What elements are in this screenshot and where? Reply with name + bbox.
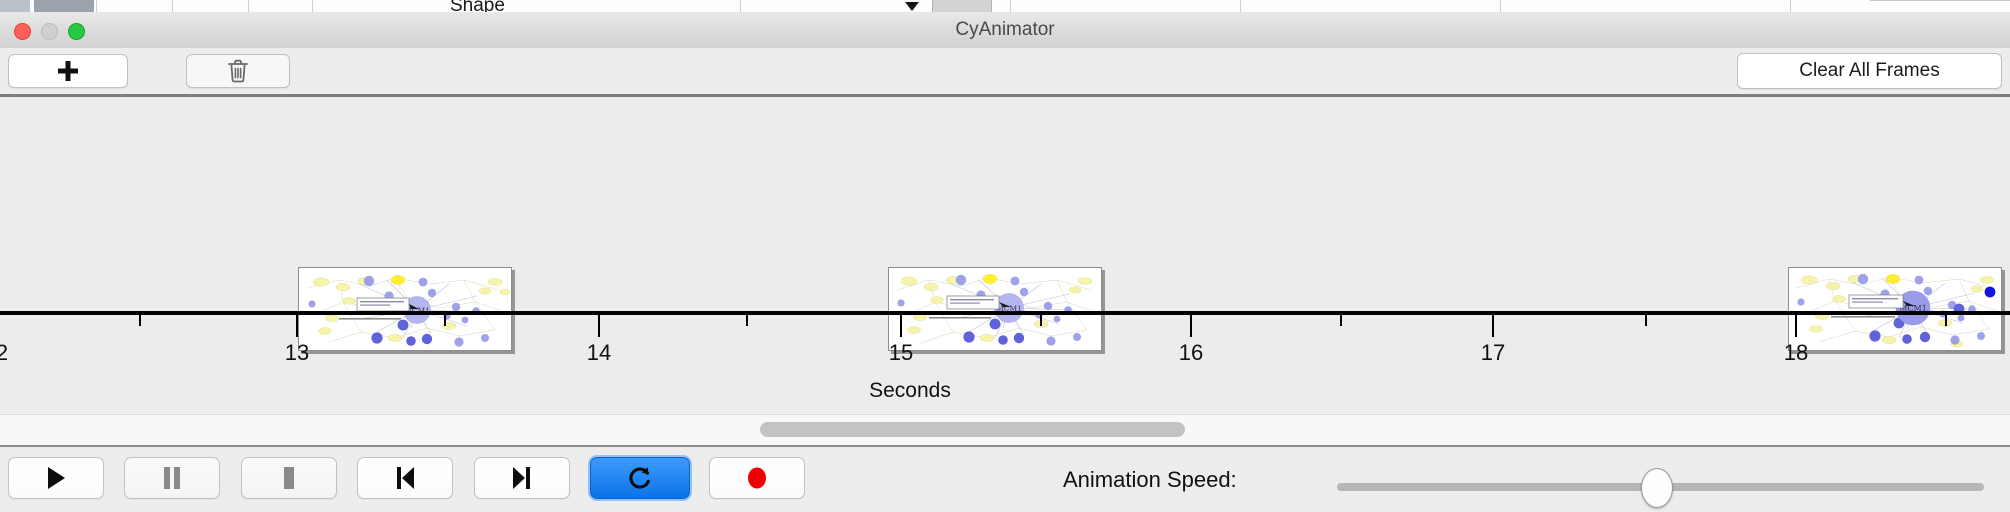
pause-icon: [161, 465, 183, 491]
clear-all-frames-label: Clear All Frames: [1799, 60, 1939, 82]
add-frame-button[interactable]: [8, 54, 128, 88]
axis-tick-major: [1190, 315, 1192, 337]
axis-tick-minor: [139, 315, 141, 326]
timeline-frame-thumbnail[interactable]: MCM1: [298, 267, 512, 351]
axis-tick-minor: [1645, 315, 1647, 326]
skip-to-start-button[interactable]: [357, 457, 453, 499]
stop-icon: [278, 465, 300, 491]
axis-tick-major: [296, 315, 298, 337]
window-title: CyAnimator: [0, 12, 2010, 48]
play-icon: [44, 465, 68, 491]
plus-icon: [55, 58, 81, 84]
timeline-frame-thumbnail[interactable]: MCM1: [1788, 267, 2002, 351]
loop-button[interactable]: [590, 457, 690, 499]
animation-speed-label: Animation Speed:: [1063, 447, 1237, 512]
background-caret-icon: [905, 2, 919, 11]
timeline-scrollbar-thumb[interactable]: [760, 422, 1185, 437]
loop-icon: [627, 465, 653, 491]
toolbar: Clear All Frames: [0, 48, 2010, 97]
axis-title: Seconds: [0, 379, 2010, 403]
title-bar: CyAnimator: [0, 12, 2010, 49]
play-button[interactable]: [8, 457, 104, 499]
skip-start-icon: [393, 465, 417, 491]
axis-tick-label: 14: [587, 340, 611, 366]
background-window-strip: Shape: [0, 0, 2010, 12]
axis-title-label: Seconds: [869, 379, 951, 402]
axis-tick-label: 16: [1179, 340, 1203, 366]
pause-button[interactable]: [124, 457, 220, 499]
axis-tick-minor: [1945, 315, 1947, 326]
timeline-frame-thumbnail[interactable]: MCM1: [888, 267, 1102, 351]
axis-tick-label: 2: [0, 340, 8, 366]
timeline-scrollbar[interactable]: [0, 414, 2010, 446]
axis-tick-major: [598, 315, 600, 337]
animation-speed-slider-thumb[interactable]: [1641, 468, 1673, 508]
axis-tick-label: 13: [285, 340, 309, 366]
axis-tick-major: [900, 315, 902, 337]
axis-tick-major: [1492, 315, 1494, 337]
skip-end-icon: [510, 465, 534, 491]
axis-tick-minor: [746, 315, 748, 326]
timeline-panel[interactable]: MCM1: [0, 97, 2010, 414]
clear-all-frames-button[interactable]: Clear All Frames: [1737, 53, 2002, 89]
axis-tick-minor: [444, 315, 446, 326]
delete-frame-button[interactable]: [186, 54, 290, 88]
cyanimator-window: Shape CyAnimator: [0, 0, 2010, 510]
axis-tick-label: 17: [1481, 340, 1505, 366]
background-shape-label: Shape: [450, 0, 505, 12]
axis-tick-label: 18: [1784, 340, 1808, 366]
transport-bar: [0, 445, 2010, 512]
timeline-axis: [0, 311, 2010, 315]
skip-to-end-button[interactable]: [474, 457, 570, 499]
axis-tick-minor: [1040, 315, 1042, 326]
record-button[interactable]: [709, 457, 805, 499]
axis-tick-label: 15: [889, 340, 913, 366]
stop-button[interactable]: [241, 457, 337, 499]
axis-tick-minor: [1340, 315, 1342, 326]
trash-icon: [226, 58, 250, 84]
record-icon: [744, 465, 770, 491]
axis-tick-major: [1795, 315, 1797, 337]
